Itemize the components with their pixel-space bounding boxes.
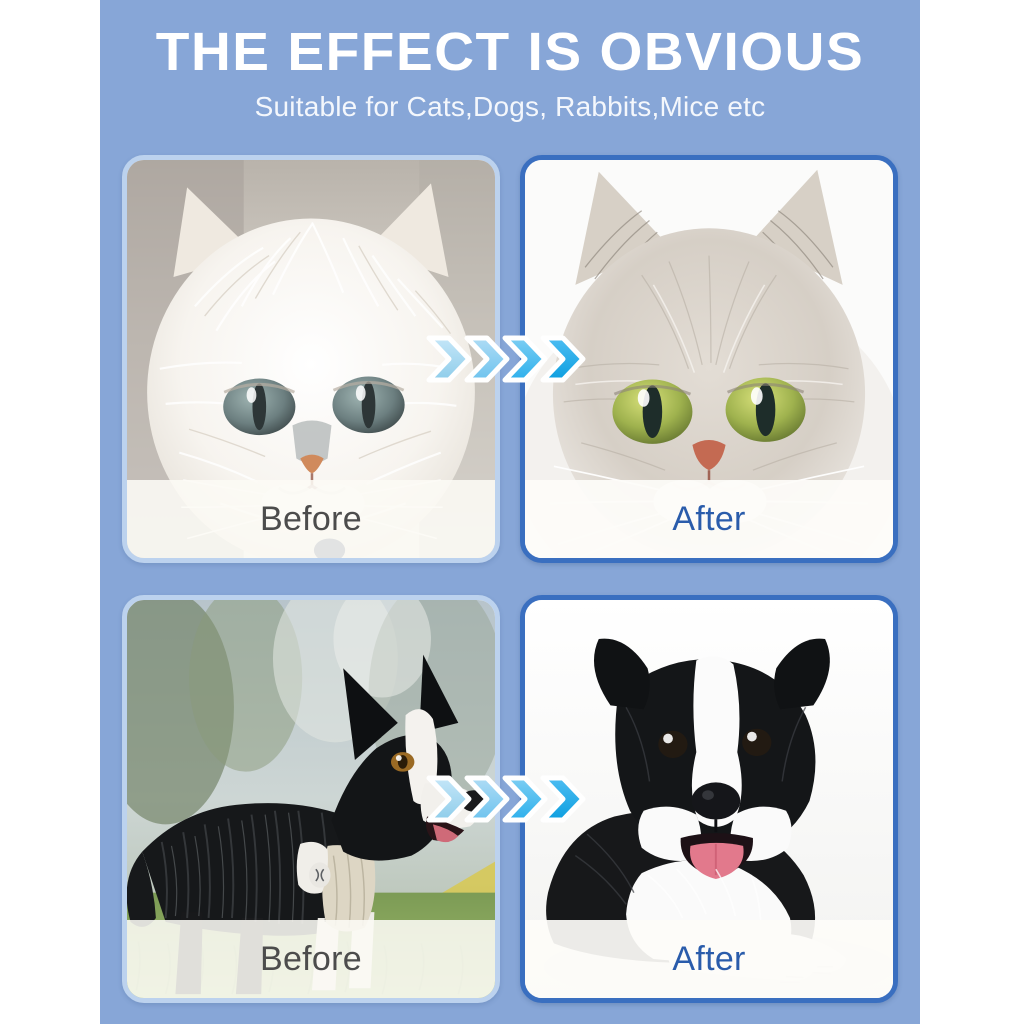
comparison-row-cat: Before: [122, 155, 898, 563]
label-after-cat: After: [672, 500, 745, 539]
promo-poster: THE EFFECT IS OBVIOUS Suitable for Cats,…: [100, 0, 920, 1024]
poster-header: THE EFFECT IS OBVIOUS Suitable for Cats,…: [100, 0, 920, 150]
comparison-grid: Before: [122, 155, 898, 1010]
caption-before-dog: Before: [127, 920, 495, 998]
caption-before-cat: Before: [127, 480, 495, 558]
caption-after-cat: After: [525, 480, 893, 558]
page-title: THE EFFECT IS OBVIOUS: [100, 0, 920, 81]
label-before-cat: Before: [260, 500, 362, 539]
after-panel-dog[interactable]: After: [520, 595, 898, 1003]
after-panel-cat[interactable]: After: [520, 155, 898, 563]
page-subtitle: Suitable for Cats,Dogs, Rabbits,Mice etc: [100, 81, 920, 123]
label-before-dog: Before: [260, 940, 362, 979]
caption-after-dog: After: [525, 920, 893, 998]
before-panel-dog[interactable]: Before: [122, 595, 500, 1003]
label-after-dog: After: [672, 940, 745, 979]
before-panel-cat[interactable]: Before: [122, 155, 500, 563]
comparison-row-dog: Before: [122, 595, 898, 1003]
